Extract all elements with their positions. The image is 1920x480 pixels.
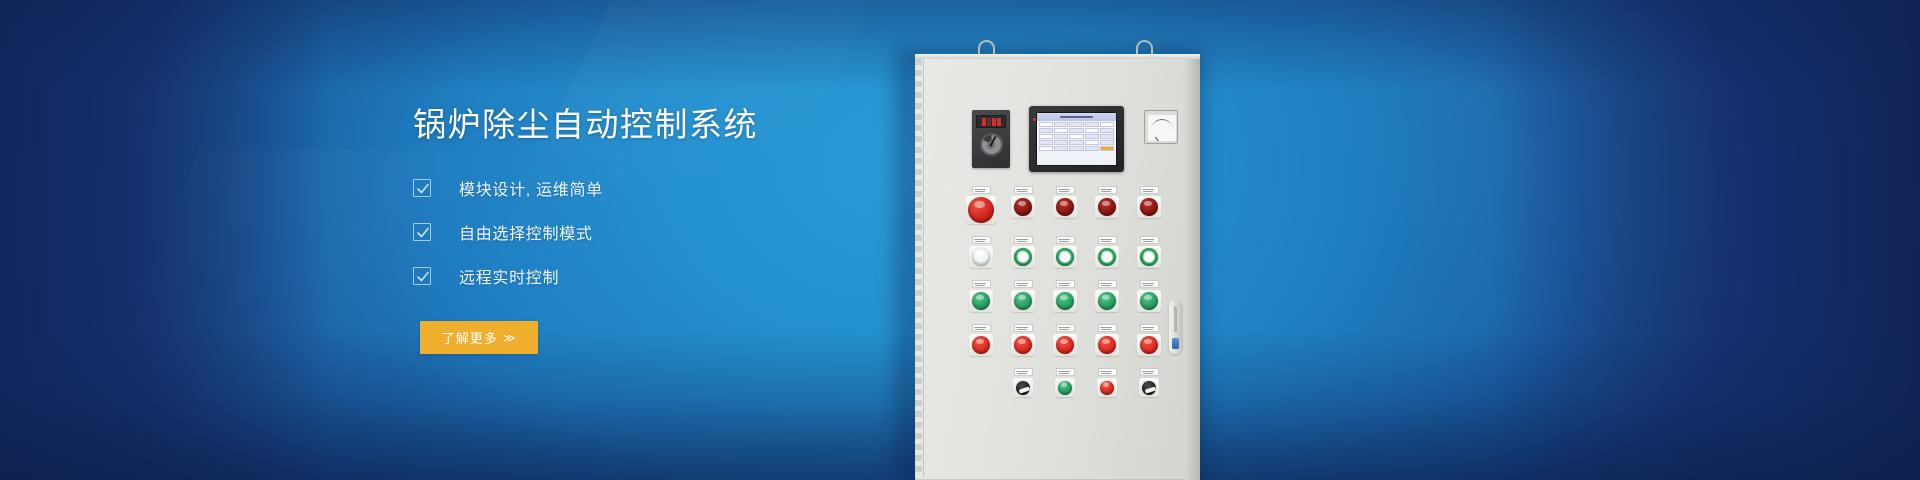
- stop-lamp-icon: [1014, 336, 1032, 354]
- status-lamp-5[interactable]: [1128, 236, 1170, 268]
- control-cabinet-photo: [888, 0, 1268, 480]
- hmi-data-table: [1037, 121, 1116, 165]
- button-matrix: [960, 186, 1170, 409]
- alarm-lamp-3[interactable]: [1086, 186, 1128, 224]
- stop-button-3[interactable]: [1044, 324, 1086, 356]
- stop-button-1[interactable]: [960, 324, 1002, 356]
- cabinet-right-edge: [1185, 54, 1200, 480]
- emergency-stop-button[interactable]: [960, 186, 1002, 224]
- selector-switch-1[interactable]: [1002, 368, 1044, 397]
- button-label-tag: [1056, 186, 1075, 194]
- list-item-label: 远程实时控制: [459, 264, 559, 288]
- hero-banner: 锅炉除尘自动控制系统 模块设计, 运维简单 自由选择控制模式: [0, 0, 1920, 480]
- stop-lamp-icon: [972, 336, 990, 354]
- button-label-tag: [1098, 368, 1117, 376]
- start-lamp-icon: [1056, 292, 1074, 310]
- button-label-tag: [1014, 324, 1033, 332]
- button-label-tag: [1056, 368, 1075, 376]
- button-label-tag: [1056, 236, 1075, 244]
- button-label-tag: [1140, 186, 1159, 194]
- learn-more-label: 了解更多: [442, 328, 498, 347]
- cabinet-top-edge: [915, 54, 1200, 59]
- check-icon: [413, 267, 431, 285]
- list-item: 远程实时控制: [413, 259, 933, 292]
- meter-face: [1148, 115, 1176, 141]
- selector-lamp-red[interactable]: [1086, 368, 1128, 397]
- button-label-tag: [1098, 280, 1117, 288]
- status-lamp-2[interactable]: [1002, 236, 1044, 268]
- rotary-selector-icon: [1016, 381, 1030, 395]
- status-indicator-row: [960, 236, 1170, 268]
- list-item-label: 模块设计, 运维简单: [459, 176, 603, 200]
- stop-lamp-icon: [1056, 336, 1074, 354]
- button-label-tag: [972, 280, 991, 288]
- button-label-tag: [1098, 186, 1117, 194]
- button-label-tag: [1014, 280, 1033, 288]
- handle-slot: [1174, 306, 1177, 332]
- emergency-and-alarm-row: [960, 186, 1170, 224]
- button-label-tag: [1140, 236, 1159, 244]
- hmi-screen-content: [1036, 112, 1117, 166]
- stop-lamp-icon: [1098, 336, 1116, 354]
- stop-button-row: [960, 324, 1170, 356]
- start-lamp-icon: [972, 292, 990, 310]
- chevron-right-icon: ≫: [503, 331, 517, 345]
- stop-lamp-icon: [1140, 336, 1158, 354]
- alarm-lamp-icon: [1014, 198, 1032, 216]
- stop-button-5[interactable]: [1128, 324, 1170, 356]
- button-label-tag: [972, 324, 991, 332]
- analog-panel-meter: [1144, 110, 1178, 144]
- button-label-tag: [1056, 324, 1075, 332]
- button-label-tag: [1140, 280, 1159, 288]
- selector-switch-2[interactable]: [1128, 368, 1170, 397]
- vfd-rotary-knob: [980, 133, 1003, 156]
- lifting-eye-right: [1136, 40, 1153, 54]
- red-lamp-icon: [1100, 381, 1114, 395]
- hmi-power-led-icon: [1033, 118, 1036, 121]
- start-button-1[interactable]: [960, 280, 1002, 312]
- hero-copy: 锅炉除尘自动控制系统 模块设计, 运维简单 自由选择控制模式: [413, 104, 933, 354]
- door-handle-with-lock[interactable]: [1169, 300, 1182, 354]
- alarm-lamp-4[interactable]: [1128, 186, 1170, 224]
- button-label-tag: [1140, 324, 1159, 332]
- button-label-tag: [1098, 236, 1117, 244]
- cabinet-door-seam: [923, 59, 924, 477]
- check-icon: [413, 223, 431, 241]
- button-label-tag: [1056, 280, 1075, 288]
- page-title: 锅炉除尘自动控制系统: [413, 104, 933, 145]
- frequency-drive-display: [972, 110, 1010, 168]
- green-lamp-icon: [1058, 381, 1072, 395]
- start-lamp-icon: [1098, 292, 1116, 310]
- button-label-tag: [1014, 186, 1033, 194]
- list-item: 模块设计, 运维简单: [413, 171, 933, 204]
- alarm-lamp-icon: [1098, 198, 1116, 216]
- start-lamp-icon: [1014, 292, 1032, 310]
- alarm-lamp-icon: [1140, 198, 1158, 216]
- button-label-tag: [1014, 236, 1033, 244]
- button-label-tag: [1140, 368, 1159, 376]
- button-label-tag: [972, 186, 991, 194]
- stop-button-2[interactable]: [1002, 324, 1044, 356]
- list-item: 自由选择控制模式: [413, 215, 933, 248]
- start-button-4[interactable]: [1086, 280, 1128, 312]
- alarm-lamp-icon: [1056, 198, 1074, 216]
- status-lamp-icon: [1056, 248, 1074, 266]
- vfd-seven-segment-readout: [976, 115, 1006, 128]
- meter-needle: [1155, 137, 1163, 141]
- status-lamp-icon: [972, 248, 990, 266]
- start-lamp-icon: [1140, 292, 1158, 310]
- stop-button-4[interactable]: [1086, 324, 1128, 356]
- rotary-selector-icon: [1142, 381, 1156, 395]
- list-item-label: 自由选择控制模式: [459, 220, 593, 244]
- check-icon: [413, 179, 431, 197]
- lifting-eye-left: [978, 40, 995, 54]
- start-button-row: [960, 280, 1170, 312]
- learn-more-button[interactable]: 了解更多 ≫: [420, 321, 538, 354]
- status-lamp-icon: [1140, 248, 1158, 266]
- estop-lamp-icon: [968, 197, 994, 223]
- button-label-tag: [1014, 368, 1033, 376]
- button-label-tag: [972, 236, 991, 244]
- hmi-screen-title-bar: [1037, 113, 1116, 121]
- start-button-3[interactable]: [1044, 280, 1086, 312]
- hmi-touchscreen: [1029, 106, 1124, 172]
- feature-list: 模块设计, 运维简单 自由选择控制模式 远程实时控制: [413, 171, 933, 292]
- start-button-2[interactable]: [1002, 280, 1044, 312]
- alarm-lamp-2[interactable]: [1044, 186, 1086, 224]
- cabinet-hinge-strip: [915, 59, 922, 477]
- status-lamp-icon: [1098, 248, 1116, 266]
- status-lamp-1[interactable]: [960, 236, 1002, 268]
- start-button-5[interactable]: [1128, 280, 1170, 312]
- status-lamp-3[interactable]: [1044, 236, 1086, 268]
- selector-lamp-green[interactable]: [1044, 368, 1086, 397]
- status-lamp-icon: [1014, 248, 1032, 266]
- lock-icon: [1172, 338, 1179, 349]
- selector-switch-row: [1002, 368, 1170, 397]
- alarm-lamp-1[interactable]: [1002, 186, 1044, 224]
- status-lamp-4[interactable]: [1086, 236, 1128, 268]
- button-label-tag: [1098, 324, 1117, 332]
